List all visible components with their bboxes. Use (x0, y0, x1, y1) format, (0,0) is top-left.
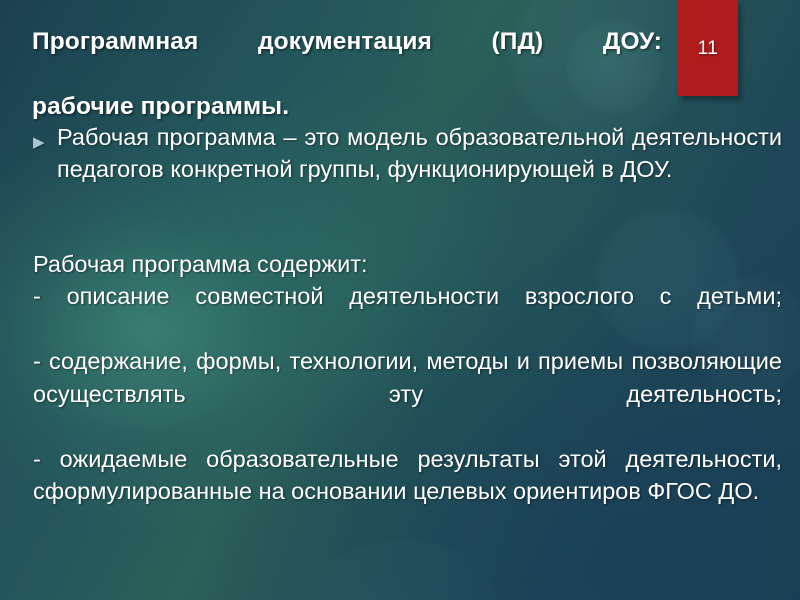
bullet-triangle-icon: ▶ (33, 122, 57, 150)
body-paragraph-item-3: - ожидаемые образовательные результаты э… (33, 443, 782, 508)
body-paragraph-item-2: - содержание, формы, технологии, методы … (33, 345, 782, 442)
bokeh-circle-5 (300, 540, 510, 600)
body-paragraph-item-1: - описание совместной деятельности взрос… (33, 280, 782, 345)
page-title-line-1: Программная документация (ПД) ДОУ: (32, 26, 662, 91)
list-item: ▶ Рабочая программа – это модель образов… (33, 122, 782, 185)
page-title: Программная документация (ПД) ДОУ: рабоч… (32, 26, 662, 124)
page-number-label: 11 (698, 39, 719, 58)
page-title-line-2: рабочие программы. (32, 91, 662, 124)
body-paragraph-intro: Рабочая программа содержит: (33, 248, 782, 280)
bullet-list: ▶ Рабочая программа – это модель образов… (33, 122, 782, 185)
body-text-block: Рабочая программа содержит: - описание с… (33, 248, 782, 507)
bullet-item-text: Рабочая программа – это модель образоват… (57, 122, 782, 185)
presentation-slide: 11 Программная документация (ПД) ДОУ: ра… (0, 0, 800, 600)
page-number-badge: 11 (678, 0, 738, 96)
